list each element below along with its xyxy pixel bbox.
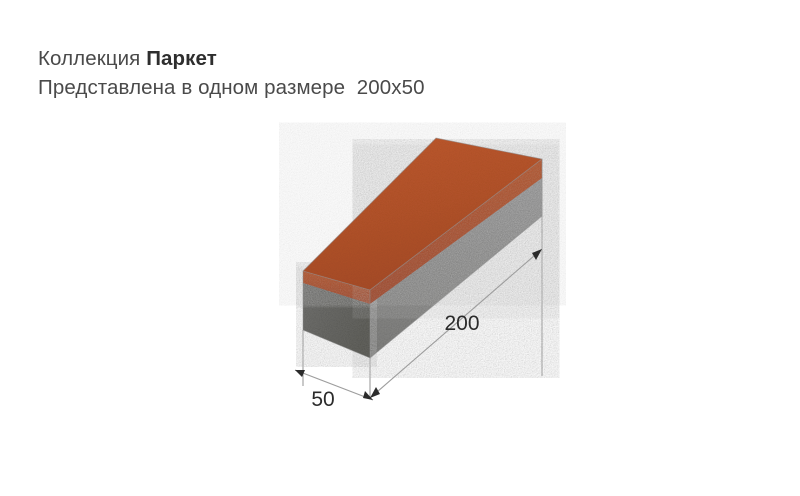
- dimension-50: 50: [295, 370, 373, 411]
- dimension-arrow-upper-icon: [532, 249, 542, 260]
- size-description-line: Представлена в одном размере 200x50: [38, 74, 598, 101]
- dimension-arrow-lower-icon: [370, 387, 380, 398]
- dimension-50-label: 50: [311, 388, 334, 411]
- paver-block-body: [303, 138, 542, 358]
- page-root: Коллекция Паркет Представлена в одном ра…: [0, 0, 800, 496]
- product-illustration: 200 50: [255, 118, 585, 418]
- heading-block: Коллекция Паркет Представлена в одном ра…: [38, 46, 598, 101]
- collection-name: Паркет: [146, 47, 217, 70]
- paver-block-3d-icon: 200 50: [255, 118, 585, 418]
- collection-title-line: Коллекция Паркет: [38, 46, 598, 72]
- dimension-200-label: 200: [444, 312, 479, 335]
- collection-label: Коллекция: [38, 47, 146, 70]
